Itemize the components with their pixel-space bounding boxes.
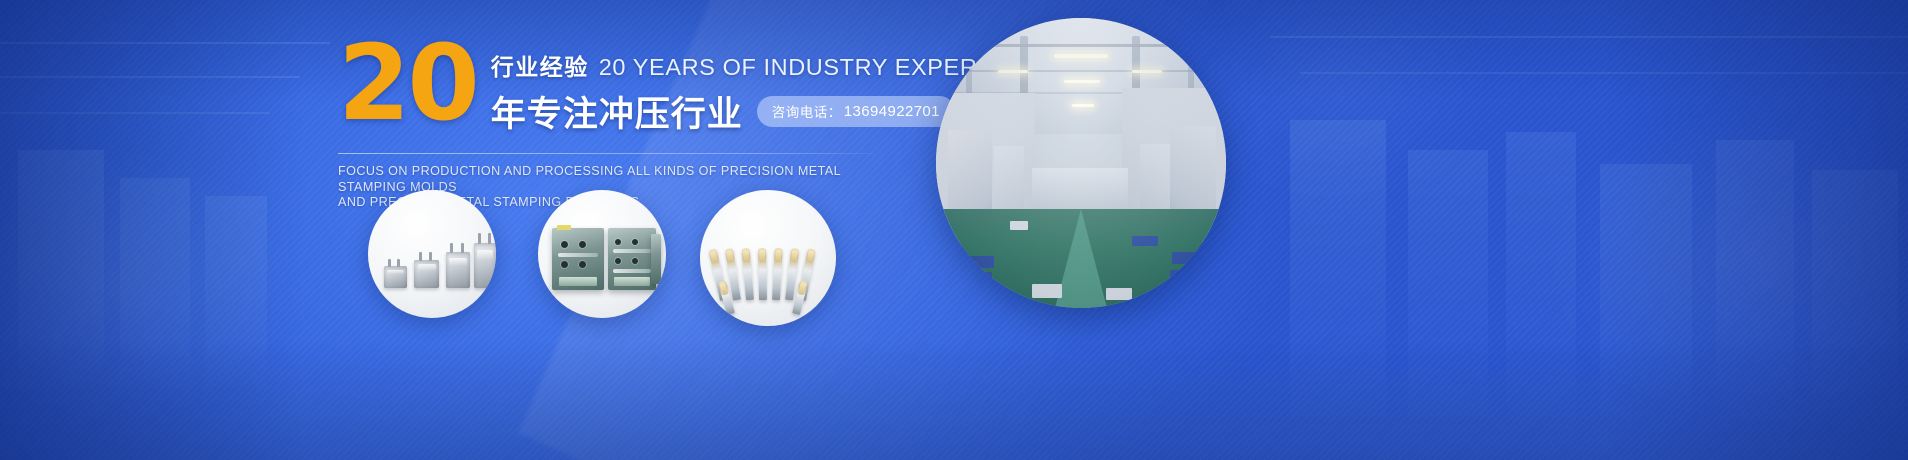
mold-side-rail <box>651 234 661 284</box>
mold-block <box>608 228 656 290</box>
years-number: 20 <box>338 40 477 127</box>
phone-badge[interactable]: 咨询电话： 13694922701 <box>757 96 955 127</box>
connector-part <box>446 252 470 288</box>
product-circle-backdrop <box>700 190 836 326</box>
connector-part <box>414 260 439 288</box>
product-circle-terminals[interactable] <box>700 190 836 326</box>
connector-part <box>384 266 407 288</box>
factory-photo[interactable] <box>936 18 1226 308</box>
promo-banner: 20 行业经验 20 YEARS OF INDUSTRY EXPERIENCE … <box>0 0 1908 460</box>
phone-label: 咨询电话： <box>772 101 842 121</box>
headline-cn-subtitle: 行业经验 <box>491 48 589 82</box>
connector-part <box>474 243 496 288</box>
phone-number: 13694922701 <box>844 103 940 120</box>
product-circle-molds[interactable] <box>538 190 666 318</box>
headline-cn-title: 年专注冲压行业 <box>491 86 743 137</box>
terminal-pin <box>758 248 767 300</box>
headline-row: 20 行业经验 20 YEARS OF INDUSTRY EXPERIENCE … <box>338 36 898 137</box>
mold-block <box>552 228 604 290</box>
divider-rule <box>338 153 875 154</box>
product-circle-connectors[interactable] <box>368 190 496 318</box>
headline-block: 20 行业经验 20 YEARS OF INDUSTRY EXPERIENCE … <box>338 36 898 211</box>
photo-sheen <box>936 18 1226 308</box>
factory-photo-scene <box>936 18 1226 308</box>
